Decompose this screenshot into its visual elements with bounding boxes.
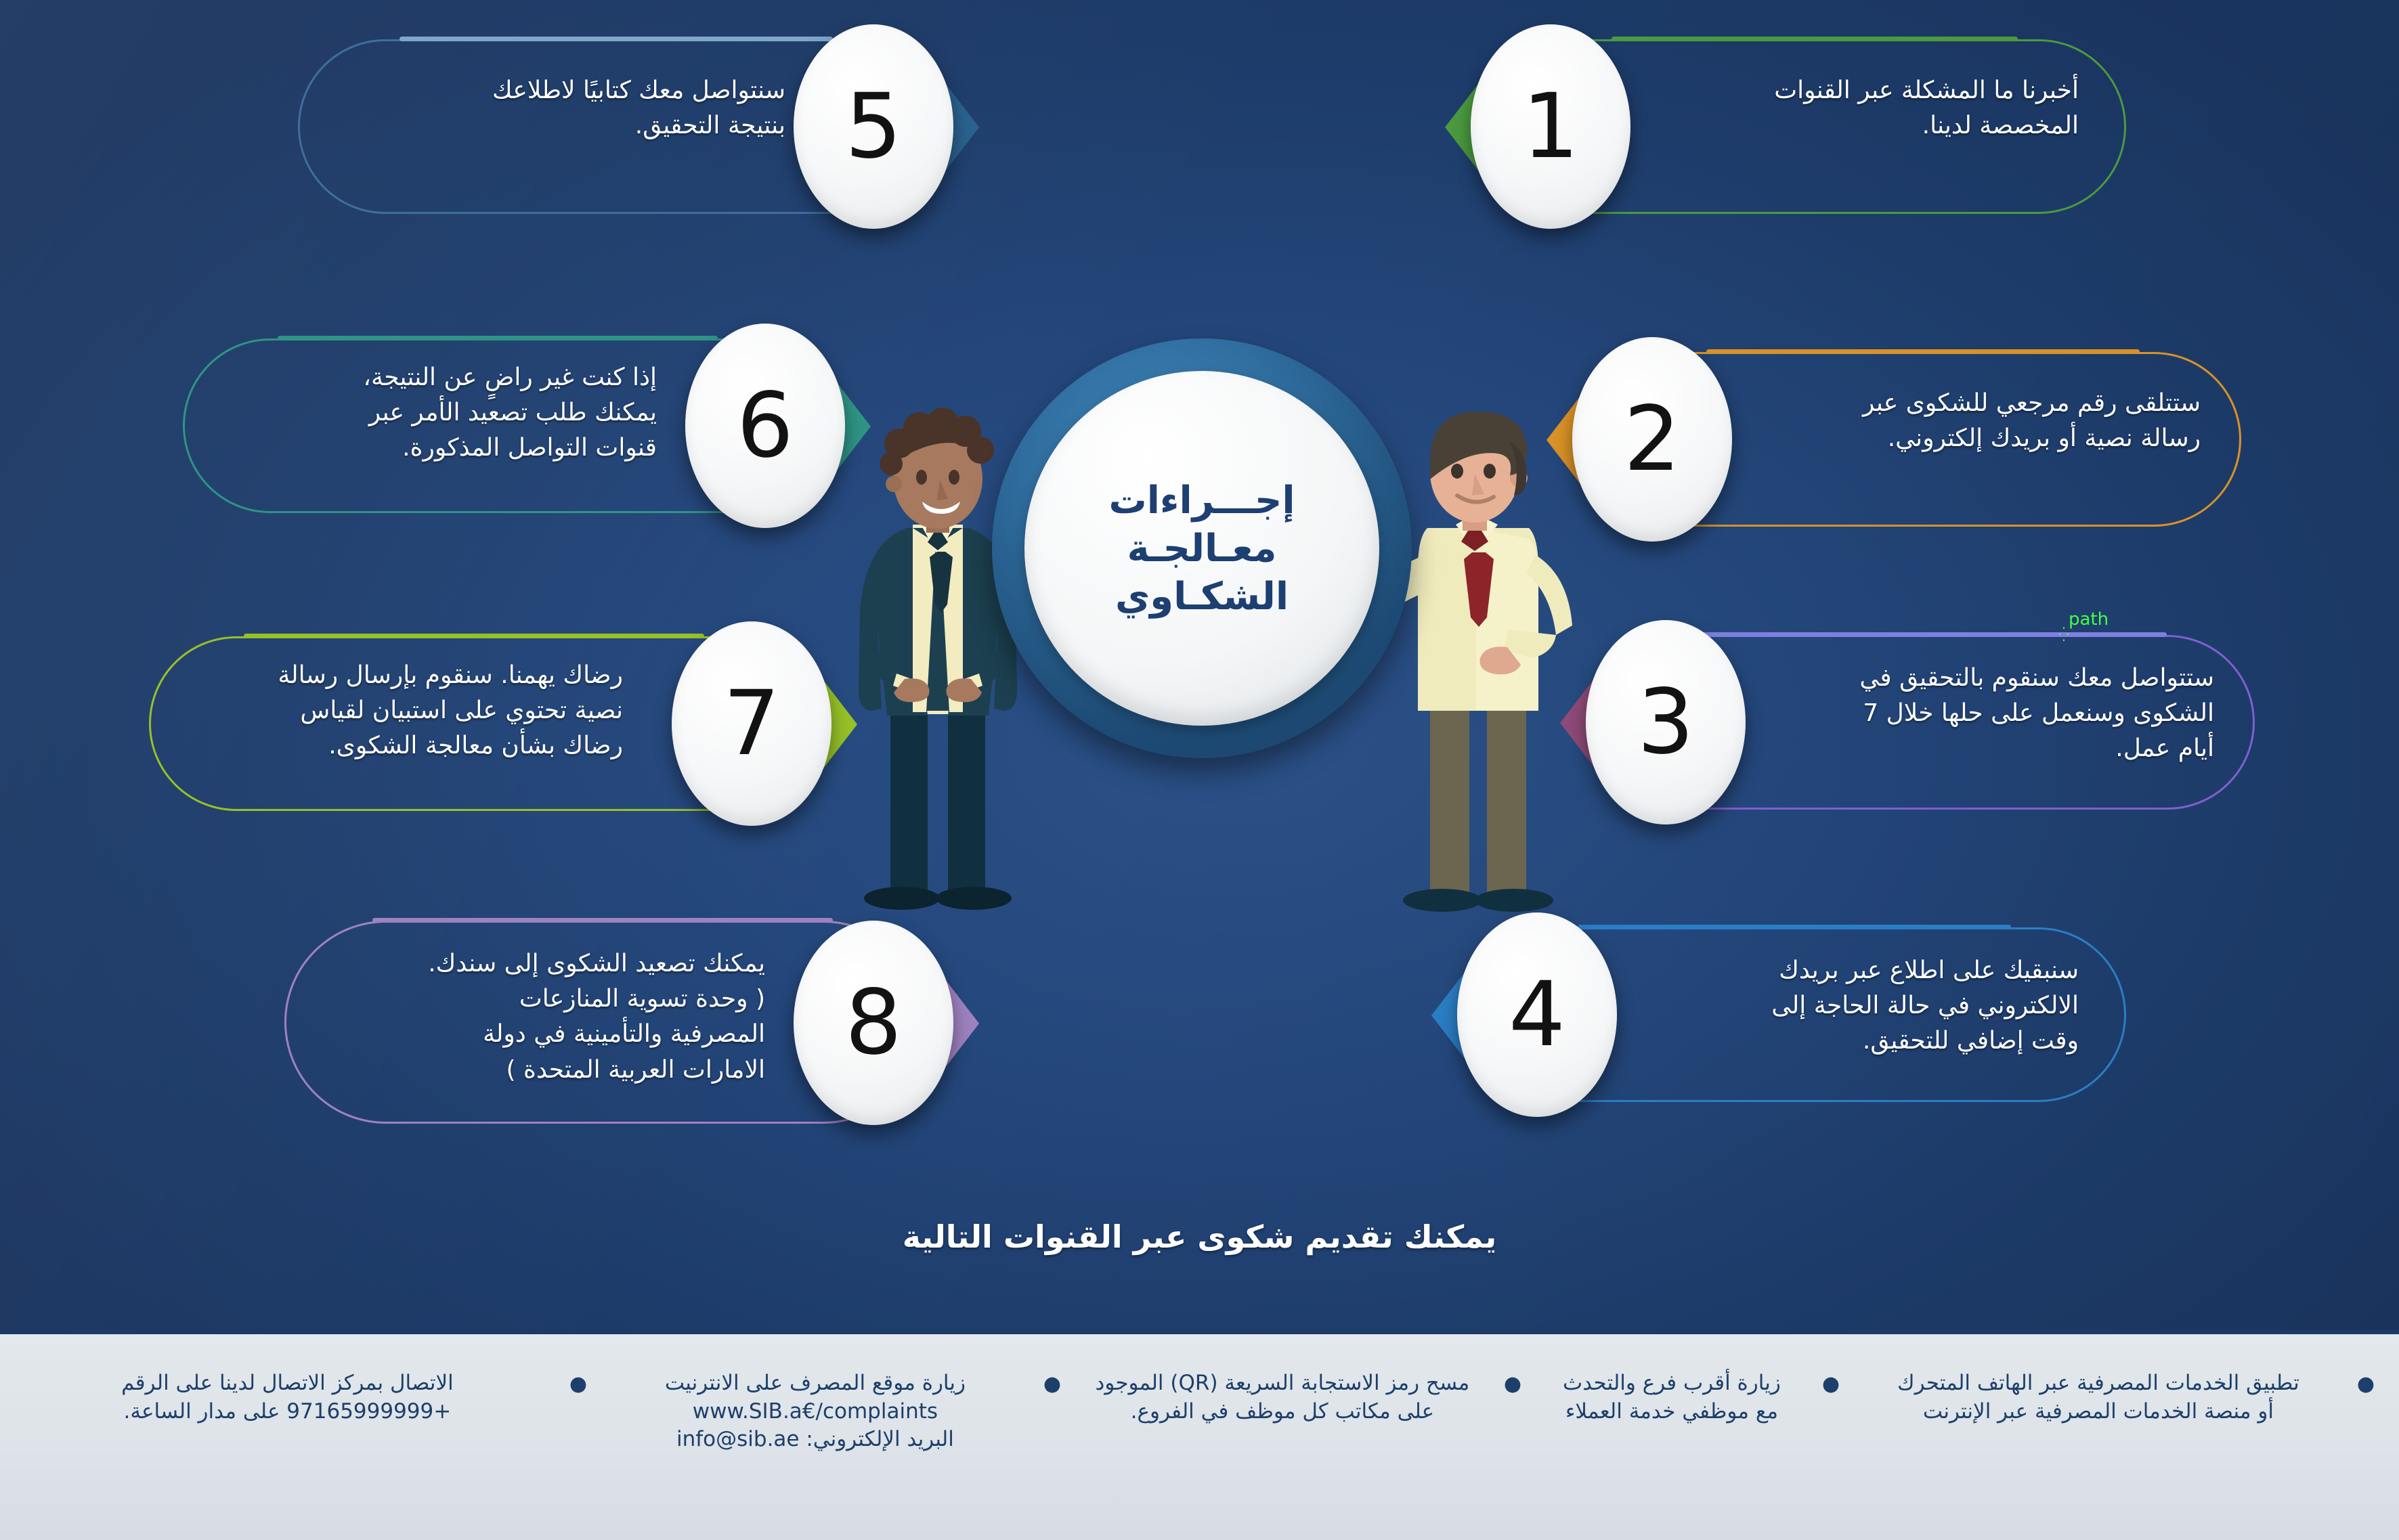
step-2[interactable]: ستتلقى رقم مرجعي للشكوى عبر رسالة نصية أ… [1557,352,2241,527]
step-8-number-circle: 8 [794,921,953,1125]
bullet-icon: ● [2348,1369,2384,1396]
footer-item-branch-visit[interactable]: ● زيارة أقرب فرع والتحدث مع موظفي خدمة ا… [1531,1369,1849,1426]
step-3-number: 3 [1637,678,1694,767]
footer-item-2-line-1: زيارة أقرب فرع والتحدث [1531,1369,1813,1398]
step-7-number: 7 [723,679,780,768]
step-6-number-circle: 6 [685,324,845,528]
step-5-number: 5 [845,82,902,171]
step-6-number: 6 [737,381,794,470]
step-7-badge[interactable]: 7 [650,621,853,826]
step-8-badge[interactable]: 8 [772,921,975,1125]
step-6[interactable]: إذا كنت غير راضٍ عن النتيجة، يمكنك طلب ت… [183,338,860,513]
step-7[interactable]: رضاك يهمنا. سنقوم بإرسال رسالة نصية تحتو… [149,636,846,811]
step-2-tick [1706,349,2140,354]
step-8-text: يمكنك تصعيد الشكوى إلى سندك. ( وحدة تسوي… [427,946,765,1088]
step-2-text: ستتلقى رقم مرجعي للشكوى عبر رسالة نصية أ… [1821,386,2201,456]
footer-item-qr-scan[interactable]: ● مسح رمز الاستجابة السريعة (QR) الموجود… [1071,1369,1531,1426]
step-4[interactable]: سنبقيك على اطلاع عبر بريدك الالكتروني في… [1442,927,2126,1102]
step-6-text: إذا كنت غير راضٍ عن النتيجة، يمكنك طلب ت… [318,360,657,466]
bullet-icon: ● [1813,1369,1849,1396]
footer-item-4-website-url[interactable]: www.SIB.a€/complaints [597,1398,1034,1426]
path-node-marker: ⁛ [2058,628,2071,640]
hub-title-line-1: إجـــراءات [1108,479,1295,523]
channels-heading: يمكنك تقديم شكوى عبر القنوات التالية [0,1218,2399,1255]
step-3-text: ستتواصل معك سنقوم بالتحقيق في الشكوى وسن… [1835,661,2214,767]
step-1-text: أخبرنا ما المشكلة عبر القنوات المخصصة لد… [1740,73,2079,144]
step-4-number-circle: 4 [1457,912,1617,1117]
footer-item-1-line-1: تطبيق الخدمات المصرفية عبر الهاتف المتحر… [1849,1369,2348,1398]
footer-item-4-email[interactable]: البريد الإلكتروني: info@sib.ae [597,1426,1034,1454]
step-7-text: رضاك يهمنا. سنقوم بإرسال رسالة نصية تحتو… [271,658,623,764]
center-hub: إجـــراءات معـالجـة الشكـاوي [992,338,1412,758]
step-4-number: 4 [1509,970,1565,1059]
footer-bar: ● تطبيق الخدمات المصرفية عبر الهاتف المت… [0,1330,2399,1540]
bullet-icon: ● [1494,1369,1531,1396]
step-5[interactable]: سنتواصل معك كتابيًا لاطلاعك بنتيجة التحق… [298,39,968,214]
footer-item-5-line-1: الاتصال بمركز الاتصال لدينا على الرقم [15,1369,560,1398]
hub-title-line-3: الشكـاوي [1115,575,1289,619]
footer-item-5-line-2: +97165999999 على مدار الساعة. [15,1398,560,1426]
step-2-number: 2 [1624,395,1681,484]
step-1-badge[interactable]: 1 [1449,24,1652,229]
step-1-tick [1612,37,2018,41]
step-1-number-circle: 1 [1471,24,1630,229]
step-5-badge[interactable]: 5 [772,24,975,229]
step-3-number-circle: 3 [1586,620,1746,824]
step-3-tick [1700,632,2167,637]
footer-item-3-line-1: مسح رمز الاستجابة السريعة (QR) الموجود [1071,1369,1494,1398]
footer-item-2-line-2: مع موظفي خدمة العملاء [1531,1398,1813,1426]
bullet-icon: ● [1034,1369,1071,1396]
footer-item-3-line-2: على مكاتب كل موظف في الفروع. [1071,1398,1494,1426]
footer-channel-list: ● تطبيق الخدمات المصرفية عبر الهاتف المت… [0,1334,2399,1540]
step-6-tick [278,336,718,340]
step-3[interactable]: ستتواصل معك سنقوم بالتحقيق في الشكوى وسن… [1571,635,2255,810]
step-7-number-circle: 7 [672,621,831,826]
step-5-number-circle: 5 [794,24,953,229]
step-7-tick [244,634,704,638]
step-8[interactable]: يمكنك تصعيد الشكوى إلى سندك. ( وحدة تسوي… [284,921,968,1124]
step-1[interactable]: أخبرنا ما المشكلة عبر القنوات المخصصة لد… [1456,39,2126,214]
bullet-icon: ● [560,1369,597,1396]
hub-inner-circle: إجـــراءات معـالجـة الشكـاوي [1024,371,1379,726]
footer-item-4-line-1: زيارة موقع المصرف على الانترنيت [597,1369,1034,1398]
step-4-badge[interactable]: 4 [1435,912,1639,1117]
hub-title-line-2: معـالجـة [1127,527,1277,571]
footer-item-mobile-banking[interactable]: ● تطبيق الخدمات المصرفية عبر الهاتف المت… [1849,1369,2384,1426]
step-8-tick [372,918,833,923]
step-4-text: سنبقيك على اطلاع عبر بريدك الالكتروني في… [1727,953,2079,1059]
footer-item-website[interactable]: ● زيارة موقع المصرف على الانترنيت www.SI… [597,1369,1071,1454]
step-3-badge[interactable]: 3 [1564,620,1767,824]
step-1-number: 1 [1522,82,1579,171]
step-8-number: 8 [845,978,902,1068]
footer-item-call-center[interactable]: ● الاتصال بمركز الاتصال لدينا على الرقم … [15,1369,597,1426]
path-label-artifact: path [2069,609,2109,630]
step-5-text: سنتواصل معك كتابيًا لاطلاعك بنتيجة التحق… [467,73,785,144]
step-2-number-circle: 2 [1572,337,1732,542]
step-4-tick [1578,925,2011,929]
step-5-tick [399,37,833,41]
footer-item-1-line-2: أو منصة الخدمات المصرفية عبر الإنترنت [1849,1398,2348,1426]
